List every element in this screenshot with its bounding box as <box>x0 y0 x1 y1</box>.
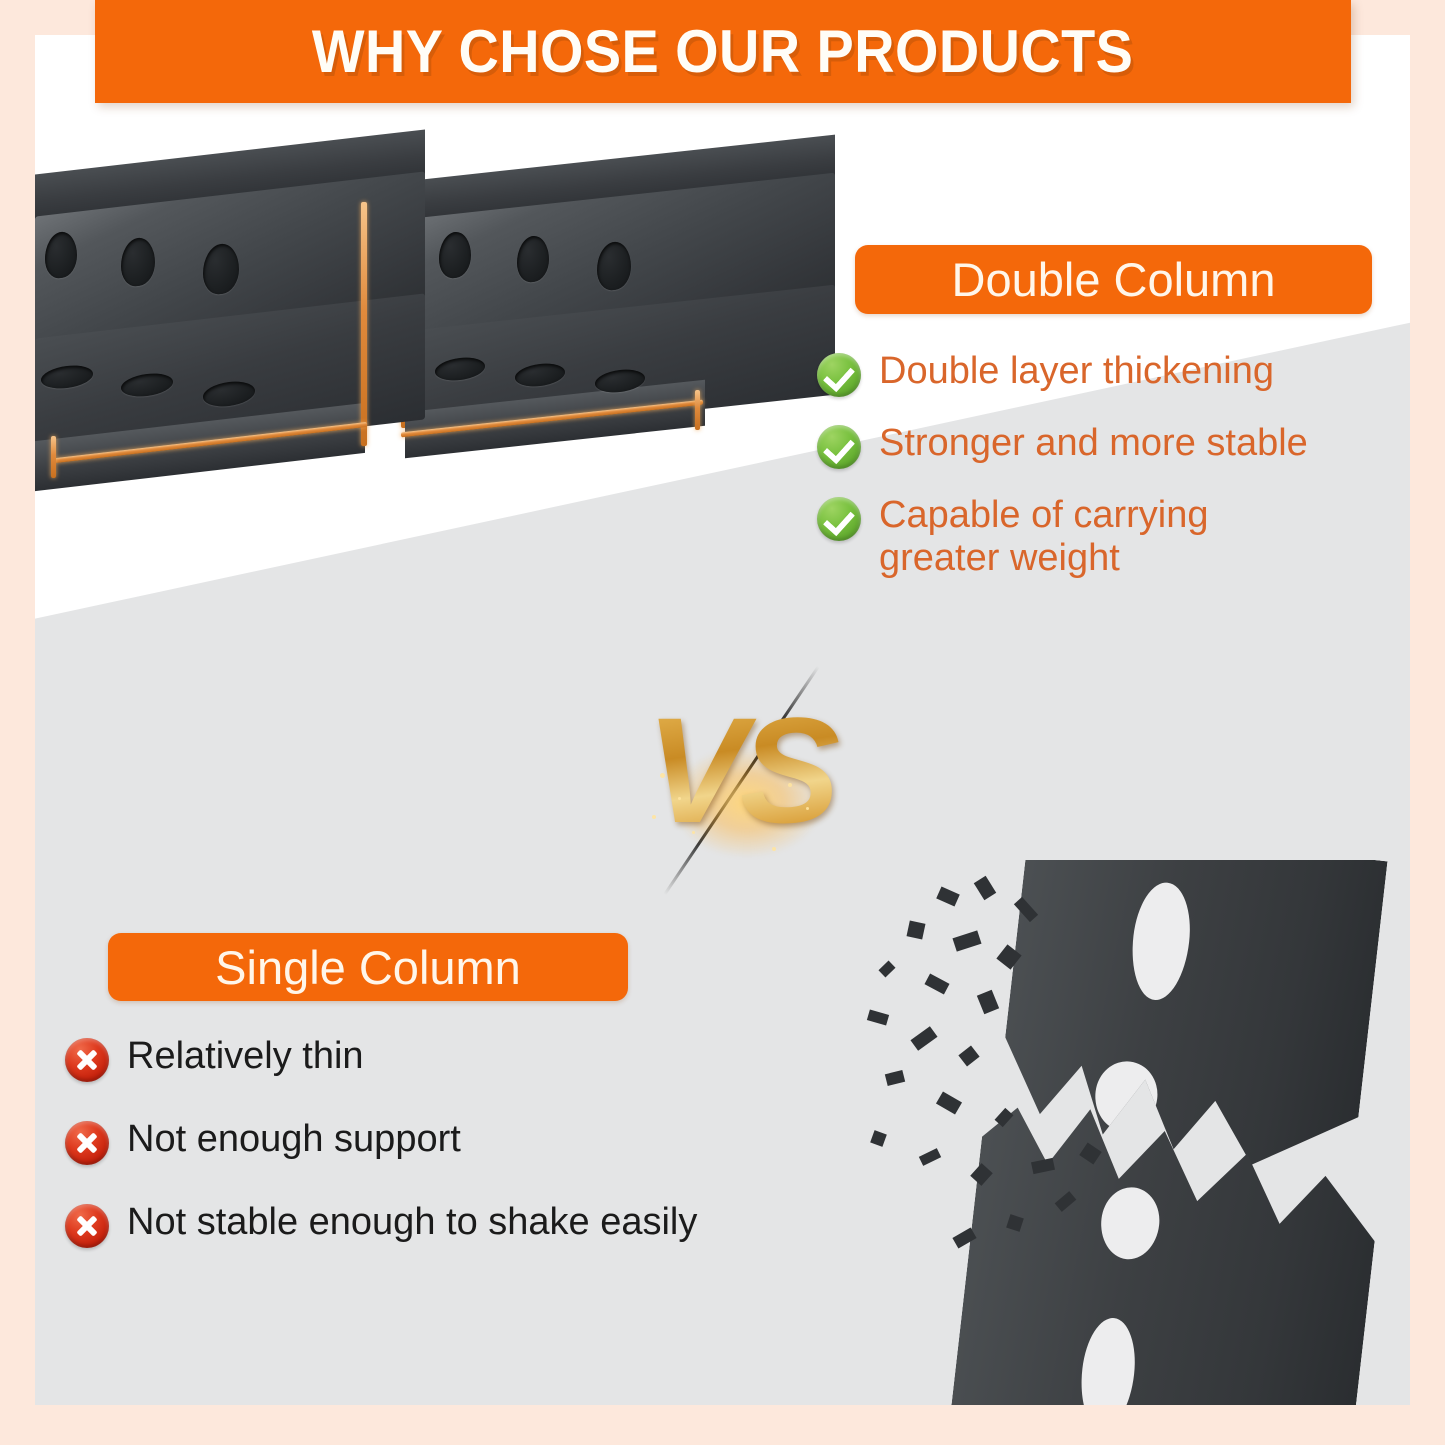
red-cross-icon <box>65 1204 109 1248</box>
single-column-badge: Single Column <box>108 933 628 1001</box>
double-column-badge-label: Double Column <box>952 252 1276 307</box>
broken-post-upper-fragment <box>992 860 1387 1189</box>
bullet-label: Not enough support <box>127 1118 461 1161</box>
single-column-drawback-list: Relatively thin Not enough support Not s… <box>65 1035 865 1284</box>
bullet-label: Capable of carrying greater weight <box>879 494 1299 579</box>
green-check-icon <box>817 497 861 541</box>
list-item: Not enough support <box>65 1118 865 1165</box>
bullet-label: Double layer thickening <box>879 350 1274 393</box>
infographic-page: VS Double Column Double layer thickening… <box>0 0 1445 1445</box>
versus-emblem: VS <box>630 655 850 885</box>
list-item: Relatively thin <box>65 1035 865 1082</box>
single-column-badge-label: Single Column <box>215 940 521 995</box>
header-banner: WHY CHOSE OUR PRODUCTS <box>95 0 1351 103</box>
page-title: WHY CHOSE OUR PRODUCTS <box>312 17 1133 86</box>
green-check-icon <box>817 425 861 469</box>
red-cross-icon <box>65 1038 109 1082</box>
double-column-badge: Double Column <box>855 245 1372 314</box>
list-item: Not stable enough to shake easily <box>65 1201 865 1248</box>
bullet-label: Relatively thin <box>127 1035 364 1078</box>
bullet-label: Stronger and more stable <box>879 422 1308 465</box>
bullet-label: Not stable enough to shake easily <box>127 1201 697 1244</box>
list-item: Stronger and more stable <box>817 422 1387 469</box>
list-item: Double layer thickening <box>817 350 1387 397</box>
double-column-photo <box>35 140 825 595</box>
list-item: Capable of carrying greater weight <box>817 494 1387 579</box>
green-check-icon <box>817 353 861 397</box>
double-column-benefit-list: Double layer thickening Stronger and mor… <box>817 350 1387 604</box>
red-cross-icon <box>65 1121 109 1165</box>
versus-label: VS <box>630 655 850 885</box>
content-canvas: VS Double Column Double layer thickening… <box>35 35 1410 1405</box>
single-column-broken-photo <box>850 860 1410 1405</box>
